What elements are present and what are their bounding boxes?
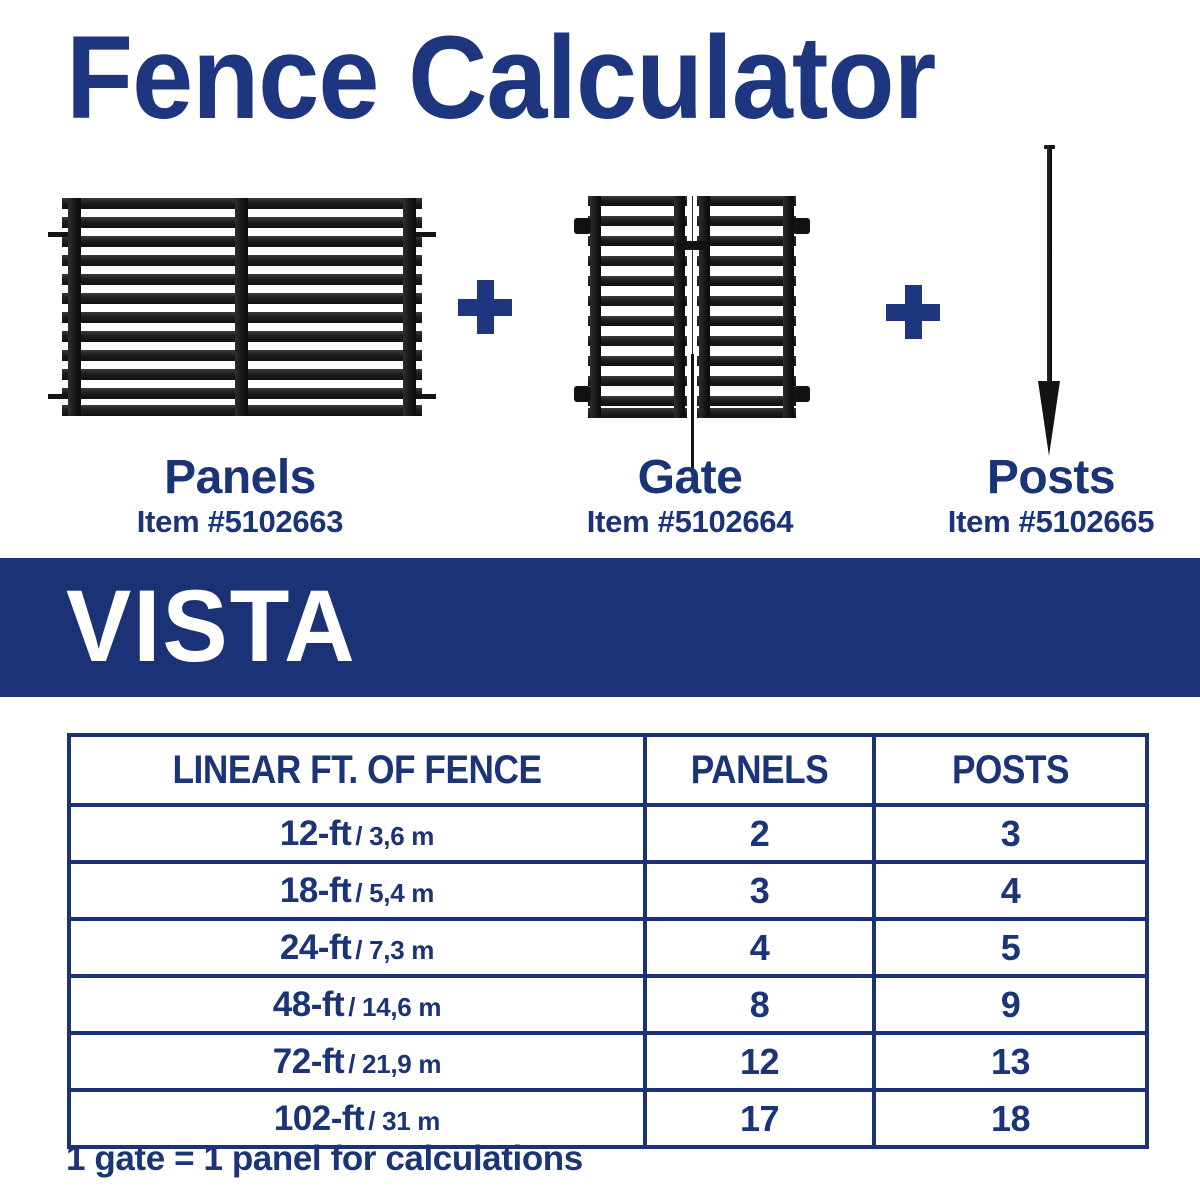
table-row: 72-ft/ 21,9 m 12 13 <box>69 1033 1147 1090</box>
column-header-linear-ft: LINEAR FT. OF FENCE <box>104 735 611 805</box>
cell-panels: 3 <box>645 862 874 919</box>
calculation-note: 1 gate = 1 panel for calculations <box>66 1139 583 1179</box>
length-ft-value: 102-ft <box>274 1099 364 1138</box>
fence-post-spike-icon <box>1030 145 1070 455</box>
cell-posts: 3 <box>874 805 1147 862</box>
fence-calculator-table: LINEAR FT. OF FENCE PANELS POSTS 12-ft/ … <box>67 733 1149 1149</box>
table-header-row: LINEAR FT. OF FENCE PANELS POSTS <box>69 735 1147 805</box>
component-caption-gate: Gate Item #5102664 <box>570 452 810 540</box>
cell-panels: 2 <box>645 805 874 862</box>
brand-name: VISTA <box>66 571 357 681</box>
component-name-gate: Gate <box>570 452 810 504</box>
plus-operator-icon <box>886 285 940 339</box>
column-header-posts: POSTS <box>890 735 1130 805</box>
length-ft-value: 48-ft <box>273 985 344 1024</box>
component-caption-panels: Panels Item #5102663 <box>60 452 420 540</box>
length-ft-value: 12-ft <box>280 814 351 853</box>
cell-linear-ft: 48-ft/ 14,6 m <box>69 976 645 1033</box>
length-ft-value: 72-ft <box>273 1042 344 1081</box>
length-m-value: / 31 m <box>364 1106 440 1136</box>
cell-posts: 9 <box>874 976 1147 1033</box>
page-title: Fence Calculator <box>66 18 1089 138</box>
plus-operator-icon <box>458 280 512 334</box>
cell-posts: 5 <box>874 919 1147 976</box>
cell-panels: 4 <box>645 919 874 976</box>
cell-posts: 13 <box>874 1033 1147 1090</box>
length-m-value: / 5,4 m <box>351 878 434 908</box>
component-item-number-posts: Item #5102665 <box>930 504 1172 540</box>
fence-gate-icon <box>588 196 796 418</box>
table-row: 18-ft/ 5,4 m 3 4 <box>69 862 1147 919</box>
cell-posts: 18 <box>874 1090 1147 1147</box>
length-ft-value: 24-ft <box>280 928 351 967</box>
component-name-panels: Panels <box>60 452 420 504</box>
cell-panels: 12 <box>645 1033 874 1090</box>
component-item-number-gate: Item #5102664 <box>570 504 810 540</box>
component-caption-posts: Posts Item #5102665 <box>930 452 1172 540</box>
column-header-panels: PANELS <box>659 735 861 805</box>
cell-linear-ft: 24-ft/ 7,3 m <box>69 919 645 976</box>
cell-linear-ft: 18-ft/ 5,4 m <box>69 862 645 919</box>
cell-panels: 17 <box>645 1090 874 1147</box>
table-row: 48-ft/ 14,6 m 8 9 <box>69 976 1147 1033</box>
length-ft-value: 18-ft <box>280 871 351 910</box>
cell-linear-ft: 12-ft/ 3,6 m <box>69 805 645 862</box>
length-m-value: / 14,6 m <box>344 992 441 1022</box>
cell-panels: 8 <box>645 976 874 1033</box>
table-row: 12-ft/ 3,6 m 2 3 <box>69 805 1147 862</box>
length-m-value: / 3,6 m <box>351 821 434 851</box>
cell-linear-ft: 72-ft/ 21,9 m <box>69 1033 645 1090</box>
table-row: 24-ft/ 7,3 m 4 5 <box>69 919 1147 976</box>
component-name-posts: Posts <box>930 452 1172 504</box>
cell-posts: 4 <box>874 862 1147 919</box>
component-item-number-panels: Item #5102663 <box>60 504 420 540</box>
fence-panel-icon <box>62 198 422 416</box>
length-m-value: / 7,3 m <box>351 935 434 965</box>
brand-banner: VISTA <box>0 558 1200 697</box>
length-m-value: / 21,9 m <box>344 1049 441 1079</box>
